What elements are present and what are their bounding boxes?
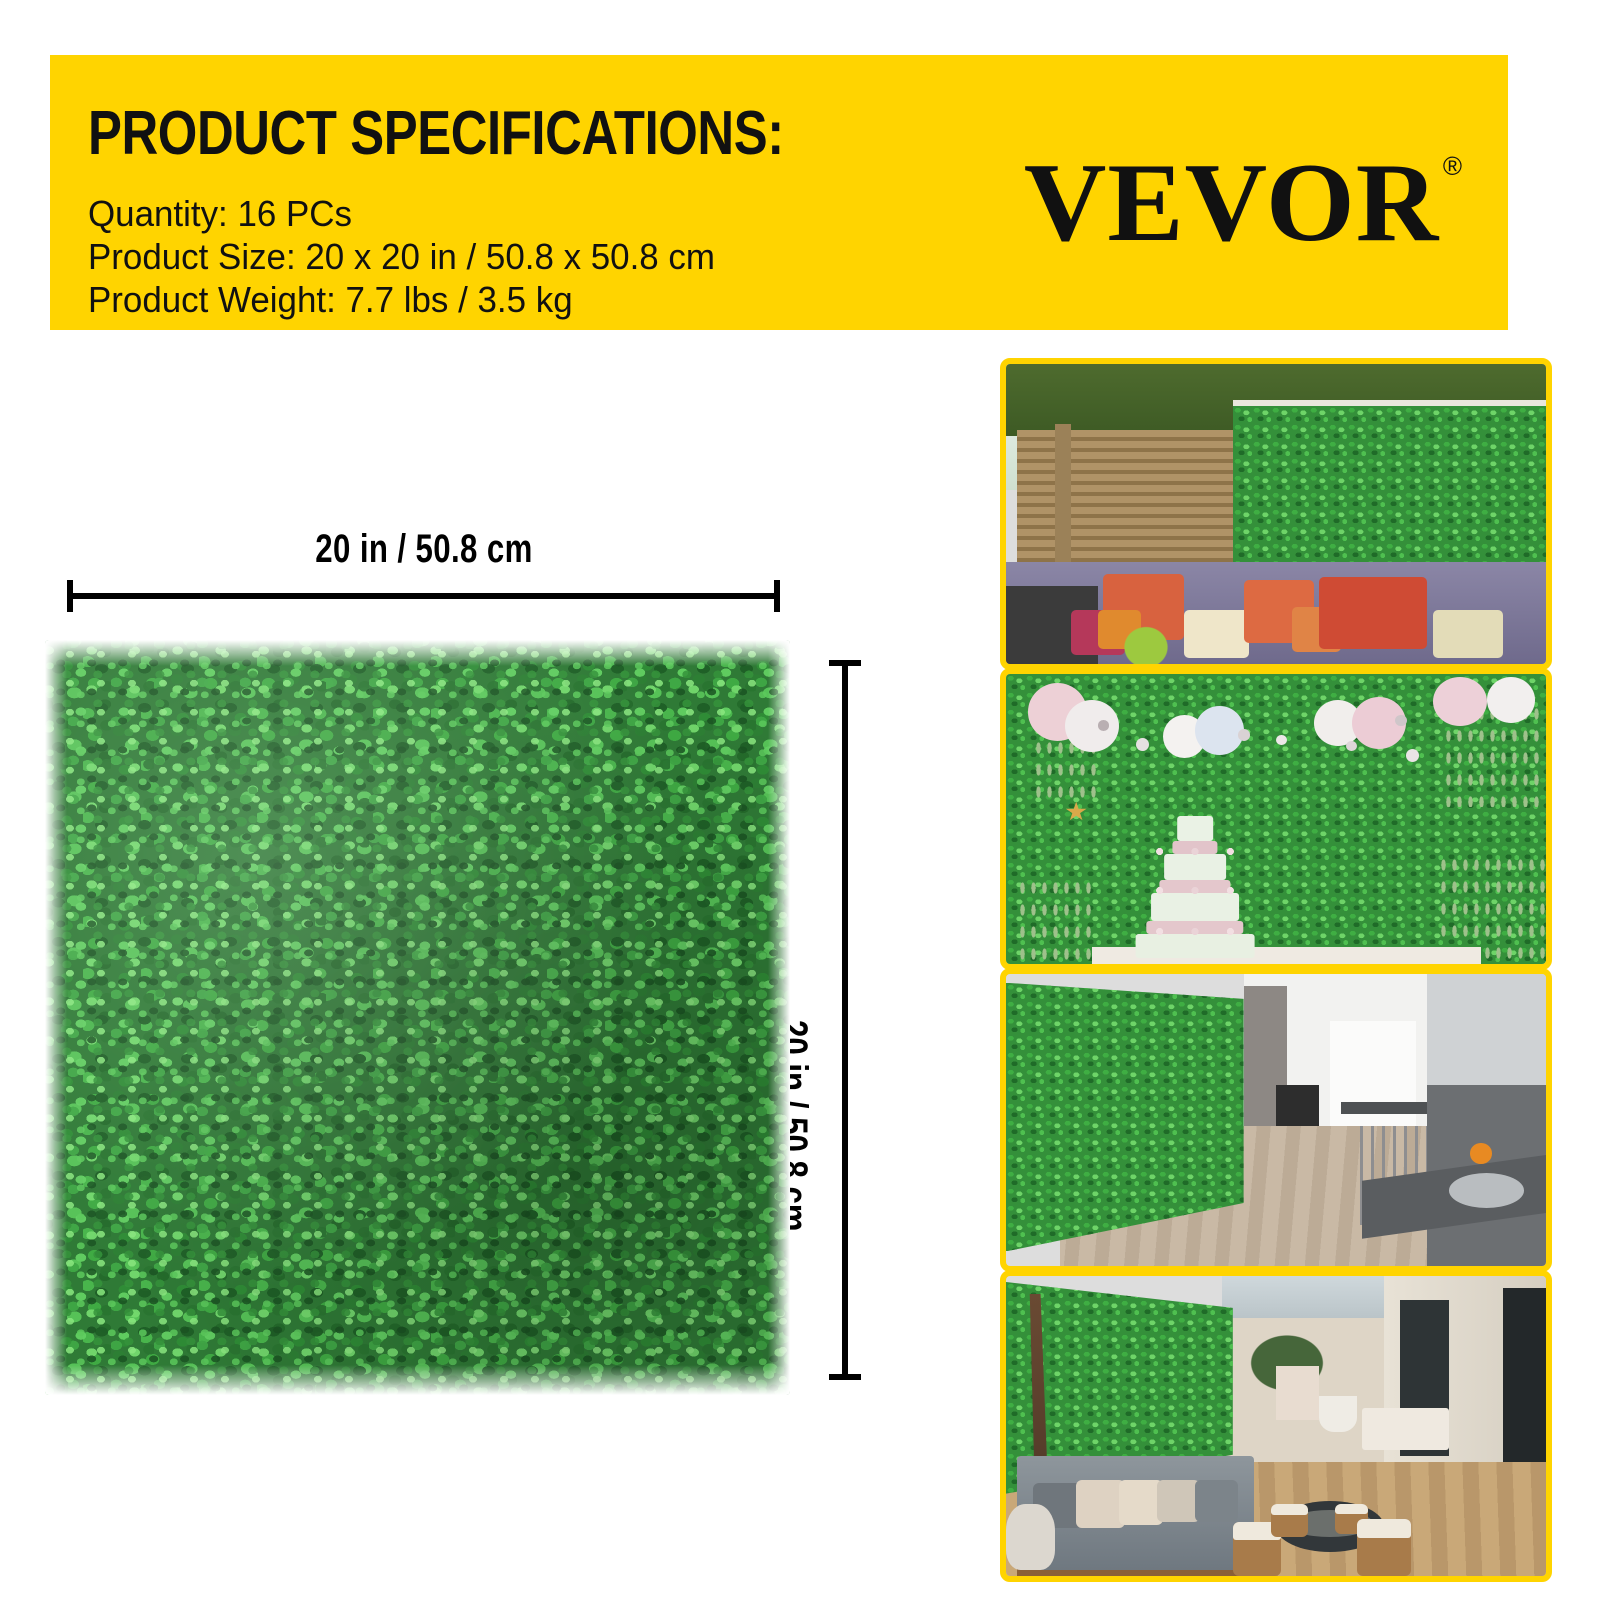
pillow-red-patterned bbox=[1319, 577, 1427, 649]
gallery-photo-kitchen-interior[interactable] bbox=[1000, 968, 1552, 1272]
balloon-small-7 bbox=[1098, 720, 1109, 730]
cake-flowers-upper bbox=[1136, 847, 1255, 856]
balloon-blue bbox=[1195, 706, 1244, 755]
spec-weight: Product Weight: 7.7 lbs / 3.5 kg bbox=[88, 278, 715, 321]
balloon-small-1 bbox=[1136, 738, 1149, 751]
pillow-beige bbox=[1433, 610, 1503, 658]
gallery-photo-patio-sofa[interactable] bbox=[1000, 358, 1552, 670]
window bbox=[1330, 1021, 1416, 1132]
tiered-cake bbox=[1136, 807, 1255, 958]
balloon-white-4 bbox=[1487, 677, 1536, 723]
log-stool-4 bbox=[1357, 1519, 1411, 1576]
width-dimension-line bbox=[67, 593, 780, 599]
width-dimension-label: 20 in / 50.8 cm bbox=[93, 527, 754, 572]
width-dimension-cap-left bbox=[67, 580, 73, 612]
cake-tier-5 bbox=[1164, 854, 1226, 880]
boxwood-wall bbox=[1233, 406, 1546, 580]
spec-size: Product Size: 20 x 20 in / 50.8 x 50.8 c… bbox=[88, 235, 715, 278]
cake-tier-3 bbox=[1151, 893, 1239, 920]
scene-patio bbox=[1006, 364, 1546, 664]
cake-tier-1 bbox=[1136, 934, 1255, 958]
product-edge-left bbox=[45, 640, 67, 1395]
balloon-small-3 bbox=[1276, 735, 1287, 745]
pillow-cream bbox=[1184, 610, 1249, 658]
large-vase bbox=[1006, 1504, 1055, 1570]
scene-courtyard bbox=[1006, 1276, 1546, 1576]
balloon-small-2 bbox=[1238, 729, 1250, 741]
brand-name: VEVOR bbox=[1023, 147, 1438, 259]
glass-door-2 bbox=[1503, 1288, 1546, 1468]
fern-accent-left-bottom bbox=[1017, 877, 1093, 964]
fence-post bbox=[1055, 424, 1071, 580]
pillow-taupe bbox=[1157, 1480, 1200, 1522]
spec-quantity: Quantity: 16 PCs bbox=[88, 192, 715, 235]
cake-tier-7 bbox=[1177, 816, 1213, 840]
specifications-list: Quantity: 16 PCs Product Size: 20 x 20 i… bbox=[88, 192, 734, 321]
specifications-banner: PRODUCT SPECIFICATIONS: Quantity: 16 PCs… bbox=[50, 55, 1508, 330]
pillow-cream-2 bbox=[1119, 1480, 1162, 1525]
balloon-small-5 bbox=[1406, 749, 1419, 762]
log-stool-2 bbox=[1271, 1504, 1309, 1537]
width-dimension-cap-right bbox=[774, 580, 780, 612]
scene-kitchen bbox=[1006, 974, 1546, 1266]
height-dimension-cap-bottom bbox=[829, 1374, 861, 1380]
cake-flowers-lower bbox=[1136, 927, 1255, 936]
wooden-fence bbox=[1017, 430, 1233, 574]
brand-logo: VEVOR ® bbox=[1032, 147, 1462, 259]
balloon-small-4 bbox=[1395, 715, 1407, 727]
gallery-photo-party-backdrop[interactable] bbox=[1000, 668, 1552, 970]
balloon-small-6 bbox=[1346, 741, 1357, 751]
sink bbox=[1449, 1173, 1525, 1208]
product-edge-right bbox=[768, 640, 790, 1395]
fruit-bowl bbox=[1470, 1143, 1492, 1163]
product-edge-bottom bbox=[45, 1365, 790, 1395]
registered-trademark-icon: ® bbox=[1443, 153, 1462, 179]
hanging-chair bbox=[1276, 1366, 1319, 1420]
potted-plant bbox=[1119, 622, 1173, 664]
scene-party bbox=[1006, 674, 1546, 964]
product-spec-sheet: PRODUCT SPECIFICATIONS: Quantity: 16 PCs… bbox=[0, 0, 1600, 1600]
pillow-cream-1 bbox=[1076, 1480, 1125, 1528]
height-dimension-line bbox=[842, 660, 848, 1380]
gallery-photo-courtyard-lounge[interactable] bbox=[1000, 1270, 1552, 1582]
balloon-pink-3 bbox=[1433, 677, 1487, 726]
leaf-shading bbox=[45, 640, 790, 1395]
page-title: PRODUCT SPECIFICATIONS: bbox=[88, 103, 784, 165]
daybed bbox=[1362, 1408, 1448, 1450]
white-planter bbox=[1319, 1396, 1357, 1432]
product-edge-top bbox=[45, 640, 790, 666]
height-dimension-cap-top bbox=[829, 660, 861, 666]
product-image bbox=[45, 640, 790, 1395]
television bbox=[1276, 1085, 1319, 1126]
pillow-grey-2 bbox=[1195, 1480, 1238, 1522]
cake-flowers-middle bbox=[1136, 886, 1255, 895]
